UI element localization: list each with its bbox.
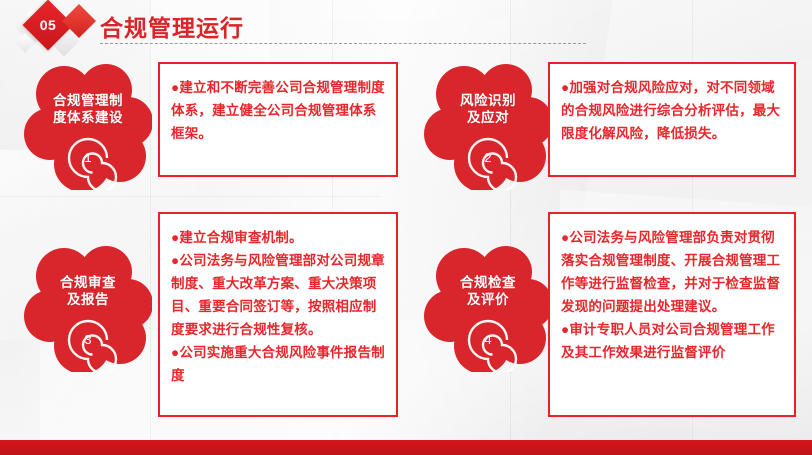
card-badge-label: 风险识别 及应对	[424, 92, 552, 126]
cloud-badge-shape-icon	[424, 244, 552, 372]
card-badge[interactable]: 风险识别 及应对 2	[424, 62, 552, 190]
card-textbox: ●公司法务与风险管理部负责对贯彻落实合规管理制度、开展合规管理工作等进行监督检查…	[548, 212, 796, 417]
card-textbox: ●建立和不断完善公司合规管理制度体系，建立健全公司合规管理体系框架。	[158, 62, 398, 177]
card-badge[interactable]: 合规审查 及报告 3	[24, 244, 152, 372]
card-badge-number: 2	[424, 150, 552, 165]
card-badge[interactable]: 合规管理制 度体系建设 1	[24, 62, 152, 190]
card-badge[interactable]: 合规检查 及评价 4	[424, 244, 552, 372]
title-divider	[100, 43, 586, 44]
card-body-text: ●建立和不断完善公司合规管理制度体系，建立健全公司合规管理体系框架。	[160, 64, 396, 155]
slide-header: 05 合规管理运行	[0, 0, 812, 56]
card-badge-label: 合规检查 及评价	[424, 274, 552, 308]
cloud-badge-shape-icon	[24, 62, 152, 190]
card-body-text: ●建立合规审查机制。 ●公司法务与风险管理部对公司规章制度、重大改革方案、重大决…	[160, 214, 396, 397]
section-number: 05	[30, 7, 66, 43]
cloud-badge-shape-icon	[424, 62, 552, 190]
card-badge-number: 4	[424, 332, 552, 347]
card-badge-number: 1	[24, 150, 152, 165]
card-badge-number: 3	[24, 332, 152, 347]
card-body-text: ●加强对合规风险应对，对不同领域的合规风险进行综合分析评估，最大限度化解风险，降…	[550, 64, 794, 155]
card-body-text: ●公司法务与风险管理部负责对贯彻落实合规管理制度、开展合规管理工作等进行监督检查…	[550, 214, 794, 374]
card-badge-label: 合规管理制 度体系建设	[24, 92, 152, 126]
slide-canvas: 05 合规管理运行 合规管理制 度体系建设 1	[0, 0, 812, 455]
card-badge-label: 合规审查 及报告	[24, 274, 152, 308]
card-textbox: ●加强对合规风险应对，对不同领域的合规风险进行综合分析评估，最大限度化解风险，降…	[548, 62, 796, 177]
page-title: 合规管理运行	[100, 9, 244, 43]
background-line	[0, 196, 380, 197]
footer-bar	[0, 440, 812, 455]
card-textbox: ●建立合规审查机制。 ●公司法务与风险管理部对公司规章制度、重大改革方案、重大决…	[158, 212, 398, 417]
cloud-badge-shape-icon	[24, 244, 152, 372]
